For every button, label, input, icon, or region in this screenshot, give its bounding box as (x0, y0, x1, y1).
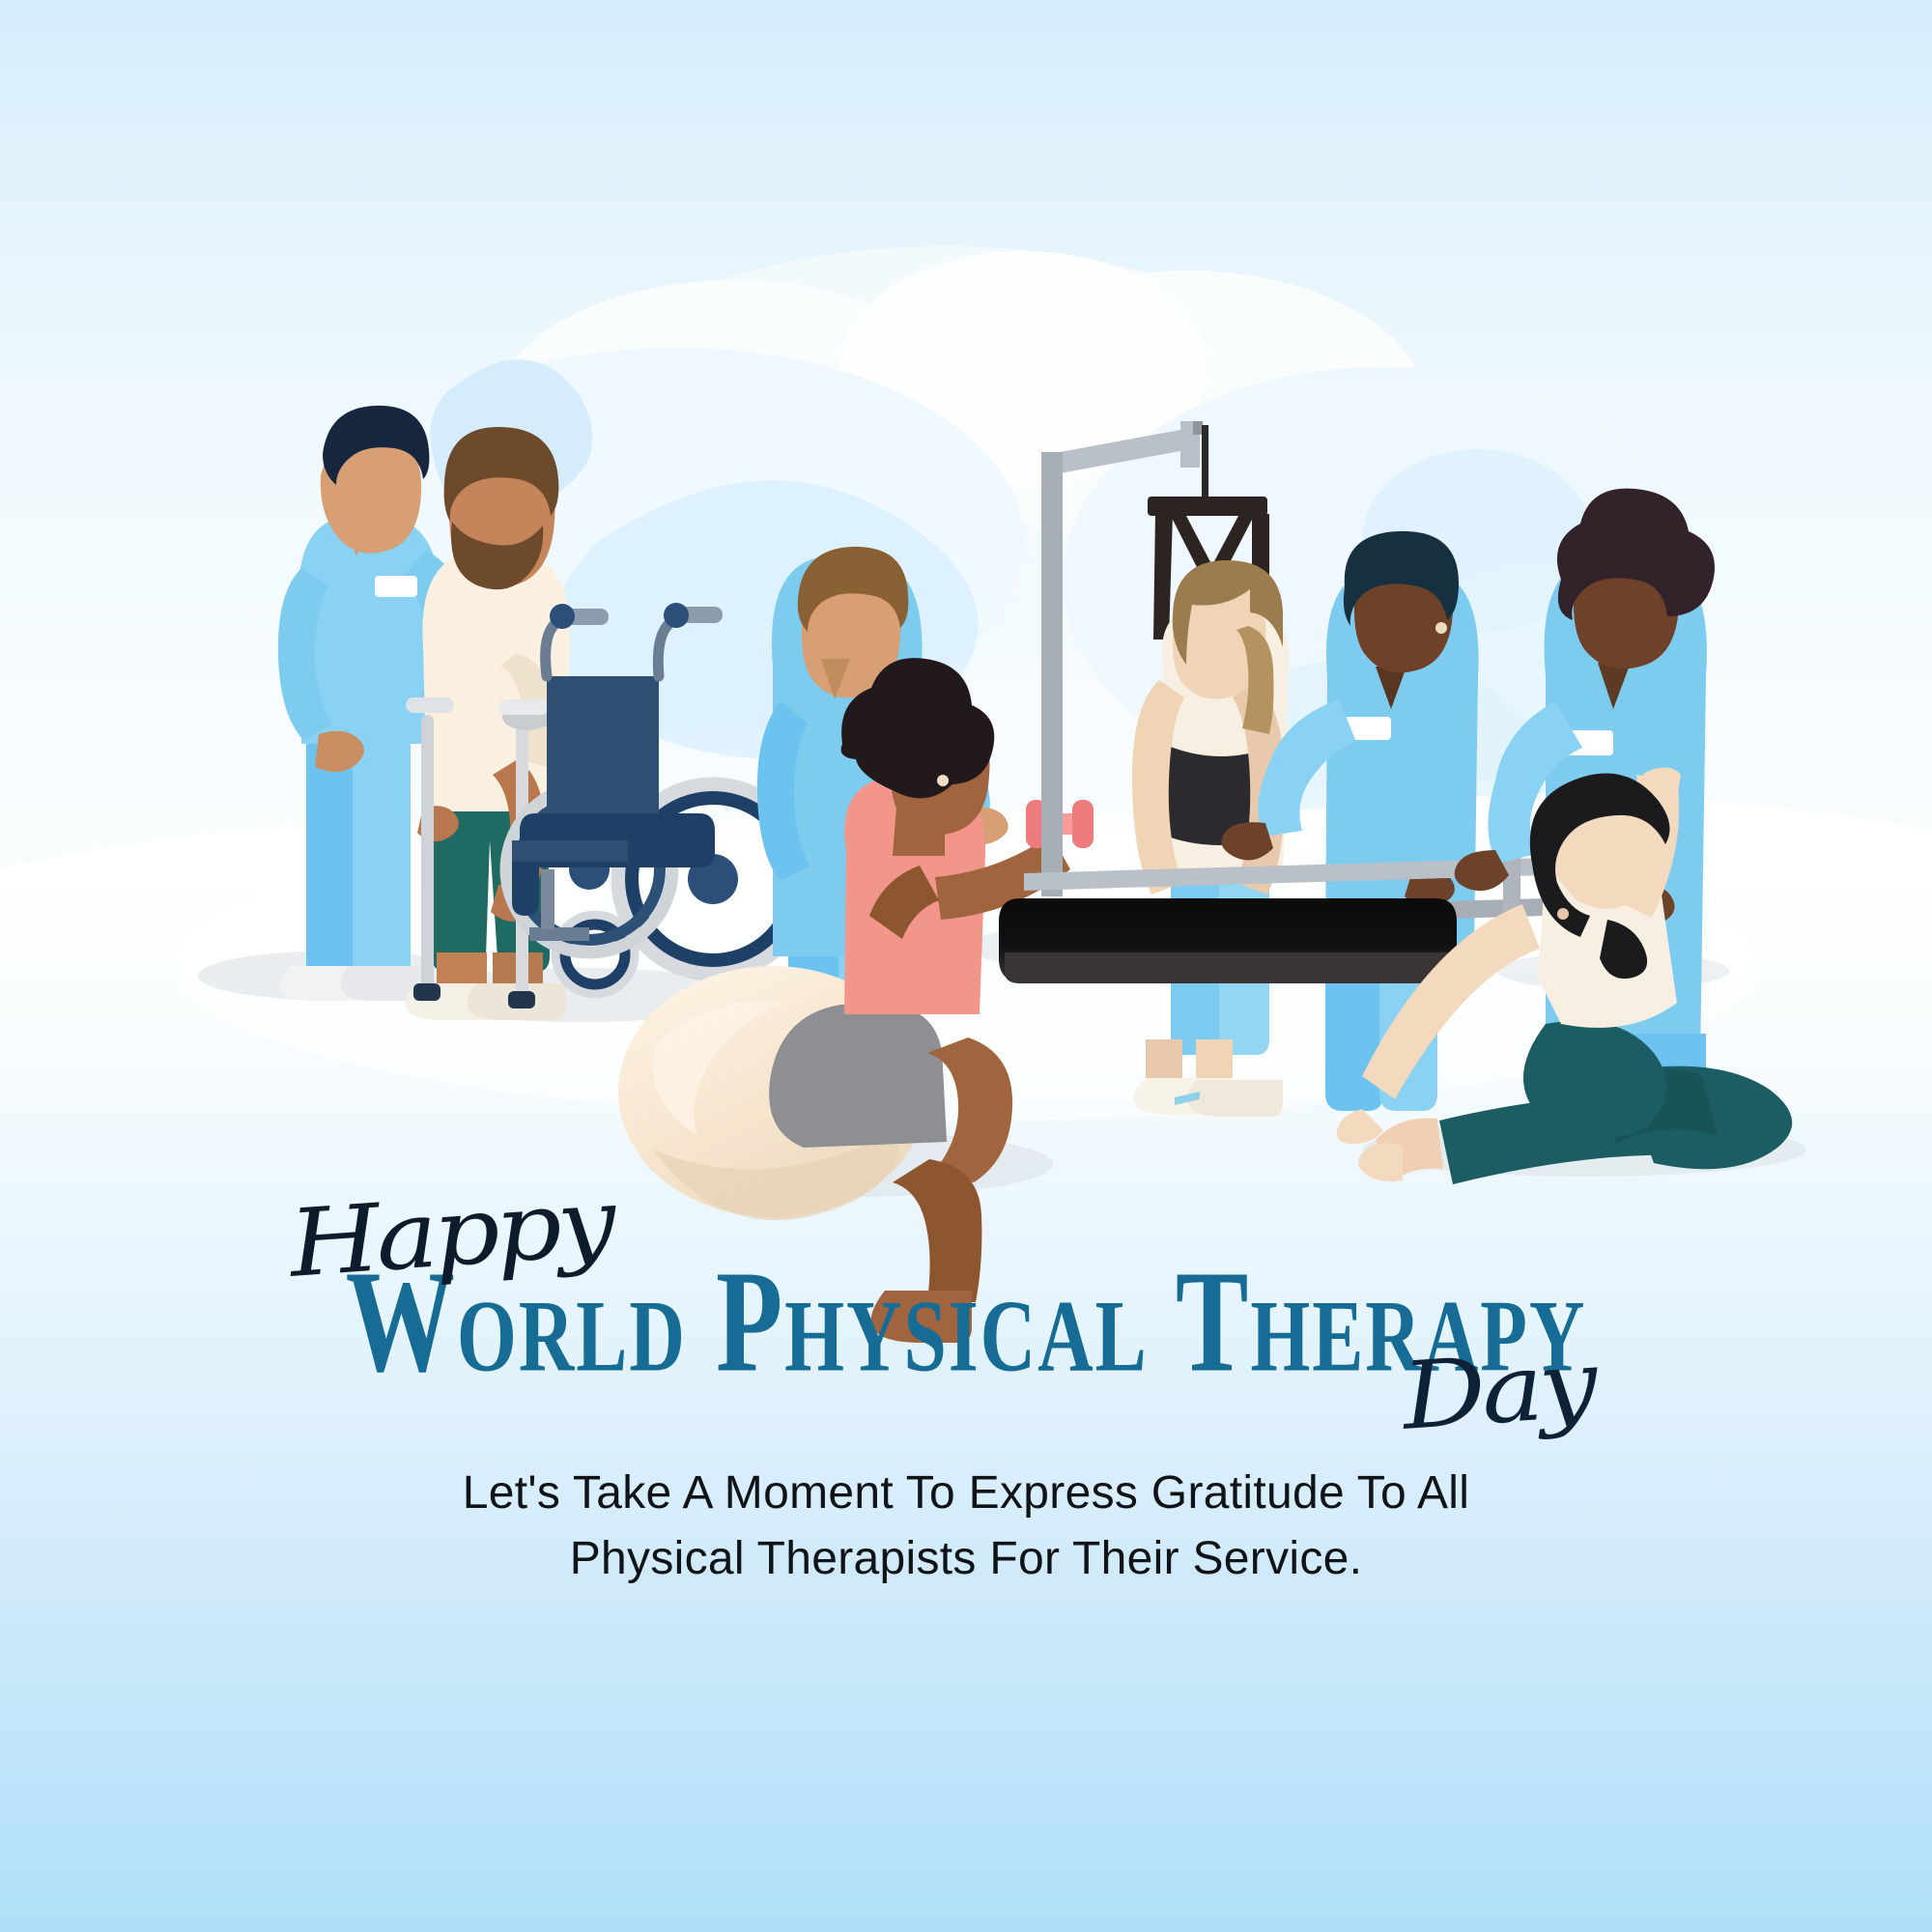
subtitle-line-1: Let's Take A Moment To Express Gratitude… (0, 1461, 1932, 1526)
treadmill (999, 898, 1457, 983)
badge-icon (375, 576, 417, 597)
script-happy-text: Happy (286, 1168, 615, 1298)
poster-subtitle: Let's Take A Moment To Express Gratitude… (0, 1461, 1932, 1592)
subtitle-line-2: Physical Therapists For Their Service. (0, 1526, 1932, 1592)
physical-therapy-illustration (0, 0, 1932, 1932)
script-day-text: Day (1399, 1329, 1597, 1451)
poster-canvas: Happy World Physical Therapy Day Let's T… (0, 0, 1932, 1932)
harness-treadmill-scene (999, 421, 1546, 1117)
